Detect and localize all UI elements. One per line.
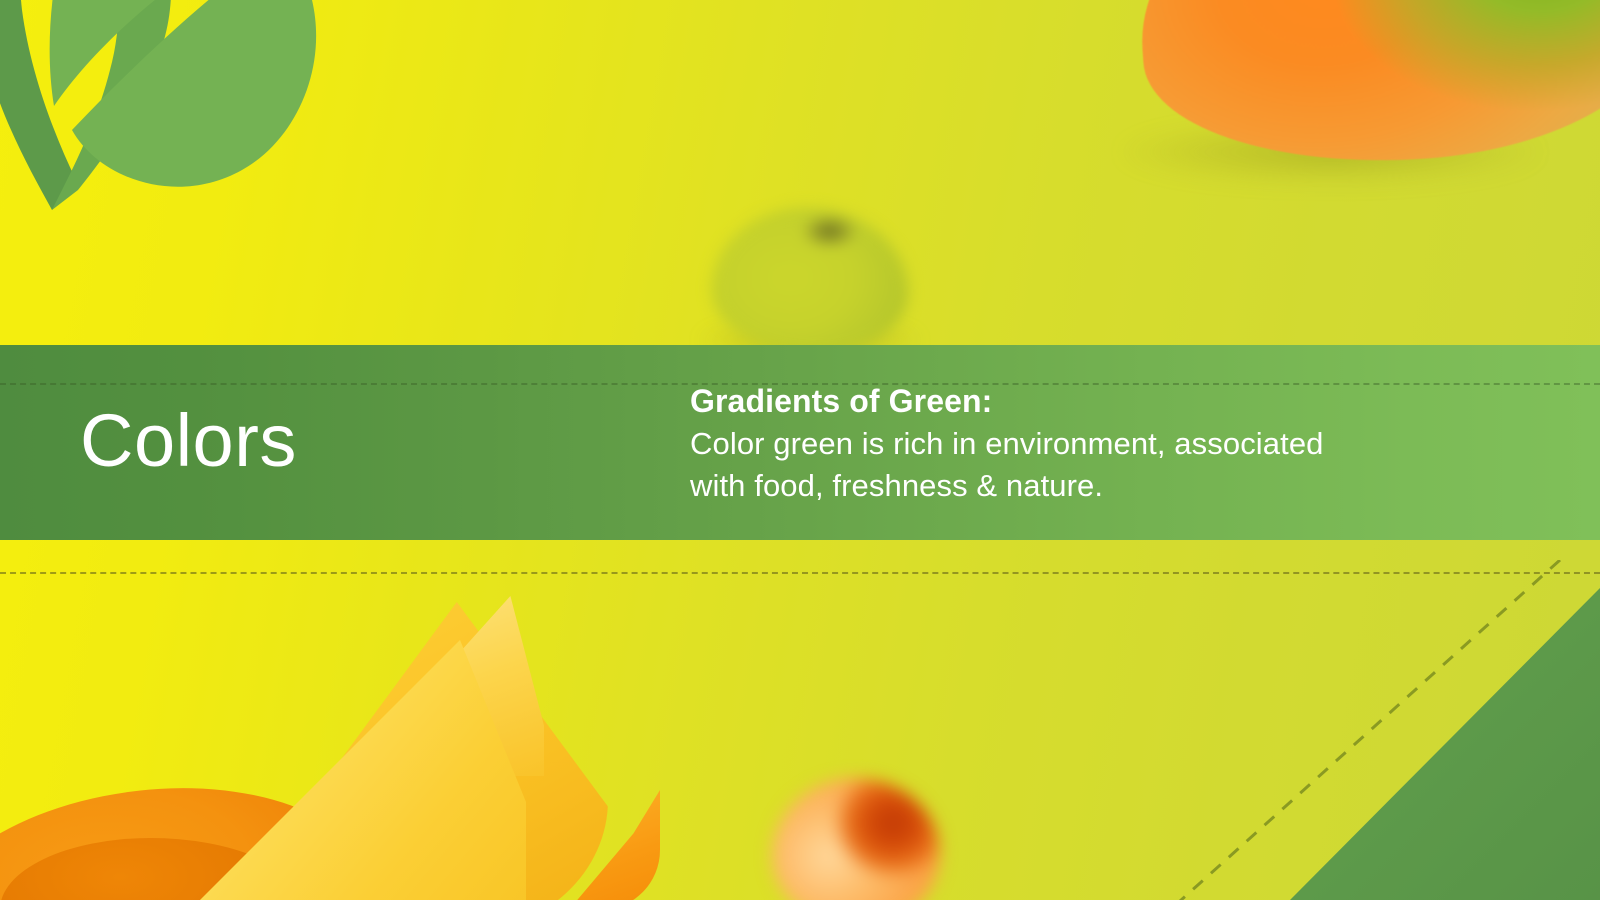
band-body-line-2: with food, freshness & nature. (690, 465, 1550, 507)
band-body-line-1: Color green is rich in environment, asso… (690, 423, 1550, 465)
band-text-block: Gradients of Green: Color green is rich … (690, 382, 1550, 507)
page-title: Colors (80, 404, 297, 478)
slide-canvas: Colors Gradients of Green: Color green i… (0, 0, 1600, 900)
lower-dashed-rule (0, 572, 1600, 574)
band-heading: Gradients of Green: (690, 382, 1550, 421)
